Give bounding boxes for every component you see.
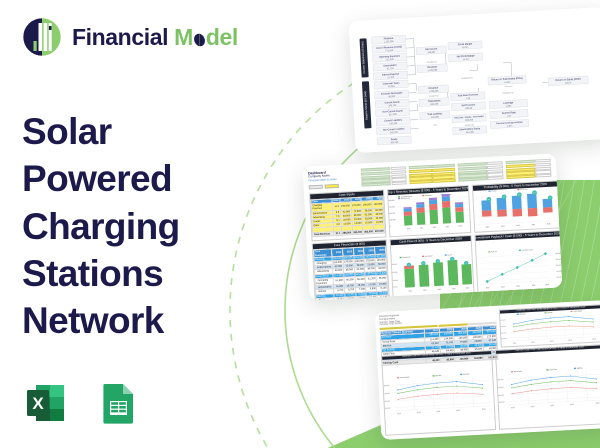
core-financials-table-panel[interactable]: Core Financials ($ 000) Core Financials2… [312,240,391,301]
svg-text:2026: 2026 [458,225,462,227]
svg-text:2024: 2024 [550,341,554,343]
svg-text:2025: 2025 [531,224,535,226]
svg-text:Net Income: Net Income [520,188,528,191]
svg-text:1.87x: 1.87x [507,125,513,127]
svg-text:2023: 2023 [419,227,423,229]
profitability-chart: EBITDA Net Income [473,186,560,231]
svg-text:109.29: 109.29 [465,108,473,110]
revenue-margin-chart-2: Gross Margin EBITDA Revenue 400,000300,0… [382,355,494,435]
pie-chart-bars-logo-icon [22,17,62,57]
brand-name-part2-suffix: del [206,24,238,50]
brand-name-part2-prefix: M [174,24,193,50]
title-line-3: Charging [22,203,322,250]
svg-text:100,000: 100,000 [502,338,508,340]
cash-flow-chart-panel[interactable]: Cash Flow ($ 000) - 5 Years to December … [389,235,475,300]
svg-text:400,000: 400,000 [384,385,390,387]
svg-text:2022: 2022 [407,228,411,230]
panel-body: 400,000300,000 200,000100,000 0 Charging… [388,191,471,236]
title-line-1: Solar [22,108,322,155]
svg-text:2026: 2026 [593,339,597,341]
svg-text:2026: 2026 [595,403,599,405]
revenue-margin-chart-3-panel[interactable]: EBITDA / Cash Flow / Net Income ($ 000) … [494,344,600,430]
svg-text:Gross Margin: Gross Margin [400,377,410,379]
projections-bottom-row: Revenue / EBITDA / Gross Margin ($ 000) … [381,344,600,436]
top1-revenue-chart-panel[interactable]: Top 1 Revenue Streams ($ 000) - 5 Years … [387,185,472,237]
projections-card[interactable]: Financial ProjectionsCompany NameScenari… [375,300,600,440]
svg-text:Cash Flow: Cash Flow [549,369,557,371]
panel-body: Core Financials20222023202420252026 Reve… [313,246,389,301]
svg-text:50,000: 50,000 [393,287,398,289]
svg-text:Payback: Payback [491,251,497,253]
svg-text:400,000: 400,000 [497,379,503,381]
panel-body: EBITDA Net Income [473,186,560,231]
svg-text:300,000: 300,000 [388,206,394,208]
svg-text:100,000: 100,000 [389,219,395,221]
panel-body: Operating CF Investing CF Net CF 200,000… [391,241,475,300]
svg-text:Revenue: Revenue [429,86,439,90]
svg-text:2024: 2024 [437,411,441,413]
summary-panel-1 [361,166,407,188]
svg-text:2022: 2022 [510,407,514,409]
svg-text:2024: 2024 [432,227,436,229]
svg-text:100,000: 100,000 [498,402,504,404]
google-sheets-icon [94,379,142,427]
cash-flow-chart: Operating CF Investing CF Net CF 200,000… [391,241,475,300]
dupont-tree-diagram: Income Statement (IS Data) Balance Sheet… [349,7,600,153]
svg-text:24,700: 24,700 [387,77,395,79]
svg-text:2026: 2026 [547,223,551,225]
svg-text:300,000: 300,000 [501,326,507,328]
svg-text:2025: 2025 [531,285,535,287]
svg-text:EBITDA: EBITDA [491,189,496,192]
svg-text:200,000: 200,000 [391,264,396,266]
summary-panel-3 [457,161,503,183]
svg-text:plus: plus [434,124,438,126]
dashboard-panel-grid: Case Inputs Case20222023202420252026 Cha… [309,181,557,294]
svg-text:28.1%: 28.1% [565,82,571,84]
svg-text:Net CF: Net CF [447,254,452,257]
svg-text:Gross Margin: Gross Margin [573,311,582,313]
svg-text:2023: 2023 [530,406,534,408]
svg-text:Operating CF: Operating CF [402,256,410,259]
svg-text:2025: 2025 [568,340,572,342]
svg-text:2024: 2024 [516,225,520,227]
svg-text:100,000: 100,000 [392,280,397,282]
svg-text:61,750: 61,750 [387,68,395,70]
svg-text:150,000: 150,000 [556,271,562,273]
svg-text:2022: 2022 [486,287,490,289]
page-title: Solar Powered Charging Stations Network [22,108,322,345]
svg-text:EBITDA: EBITDA [435,374,442,377]
svg-text:200,000: 200,000 [384,401,390,403]
svg-text:2026: 2026 [545,284,549,286]
svg-text:Revenue: Revenue [384,37,394,41]
svg-text:Revenue: Revenue [520,314,526,316]
svg-text:2025: 2025 [445,226,449,228]
svg-text:Subscription: Subscription [425,194,433,197]
svg-text:250,000: 250,000 [555,259,561,261]
svg-text:Net Income: Net Income [513,370,521,373]
left-content-column: Financial Mdel Solar Powered Charging St… [22,14,322,434]
svg-text:100,000: 100,000 [385,408,391,410]
svg-text:46,563: 46,563 [388,86,396,88]
summary-panel-4 [505,159,551,181]
svg-text:Cumulative Cash: Cumulative Cash [522,248,533,252]
svg-text:1.88x: 1.88x [506,105,512,107]
svg-text:200,000: 200,000 [498,395,504,397]
svg-text:2025: 2025 [452,288,456,290]
svg-text:2022: 2022 [513,343,517,345]
svg-text:2023: 2023 [423,290,427,292]
svg-text:98,800: 98,800 [388,96,396,98]
leaf-o-icon [193,27,206,43]
title-line-5: Network [22,297,322,344]
title-line-4: Stations [22,250,322,297]
svg-text:400,000: 400,000 [501,320,507,322]
svg-text:2024: 2024 [516,286,520,288]
svg-text:300,000: 300,000 [555,253,561,255]
svg-text:100,000: 100,000 [556,277,562,279]
svg-text:2023: 2023 [531,342,535,344]
svg-text:Investing CF: Investing CF [424,255,432,258]
svg-text:2022: 2022 [485,226,489,228]
svg-text:Revenue: Revenue [463,374,469,376]
microsoft-excel-icon: X [22,379,70,427]
revenue-margin-chart-1: Revenue EBITDA Gross Margin 400,000300,0… [500,309,600,347]
svg-text:2026: 2026 [482,409,486,411]
dupont-tree-card[interactable]: Income Statement (IS Data) Balance Sheet… [349,7,600,153]
svg-text:2025: 2025 [570,404,574,406]
svg-text:300,000: 300,000 [497,387,503,389]
svg-text:2022: 2022 [397,413,401,415]
svg-text:200,000: 200,000 [556,265,562,267]
svg-text:EBITDA: EBITDA [547,311,552,314]
svg-text:0: 0 [389,226,390,228]
svg-text:400,000: 400,000 [388,200,394,202]
svg-text:Leverage: Leverage [503,101,514,105]
brand-name-part1: Financial [72,24,168,51]
svg-text:200,000: 200,000 [501,333,507,335]
svg-text:2023: 2023 [417,412,421,414]
svg-text:X: X [32,394,44,413]
dashboard-card[interactable]: Dashboard Company Name Financial tables … [303,153,563,300]
svg-text:2026: 2026 [465,288,469,290]
top1-revenue-chart: 400,000300,000 200,000100,000 0 Charging… [388,191,471,236]
projection-table-panel[interactable]: Financial ProjectionsCompany NameScenari… [379,310,498,354]
dashboard-next-button[interactable] [325,184,339,189]
svg-text:Revenue: Revenue [427,65,437,69]
title-line-2: Powered [22,155,322,202]
core-financials-table: Core Financials20222023202420252026 Reve… [313,246,389,301]
svg-text:2024: 2024 [550,405,554,407]
svg-text:2022: 2022 [408,291,412,293]
revenue-margin-chart-2-panel[interactable]: Revenue / EBITDA / Gross Margin ($ 000) … [381,350,496,436]
revenue-margin-chart-1-panel[interactable]: Revenue / EBITDA / Gross Margin ($ 000) … [499,304,600,347]
svg-text:11.2%: 11.2% [463,59,469,61]
svg-text:14.9%: 14.9% [504,82,510,84]
brand-name: Financial Mdel [72,24,238,51]
brand-lockup: Financial Mdel [22,14,322,60]
svg-text:2023: 2023 [501,287,505,289]
profitability-chart-panel[interactable]: Profitability ($ 000) - 5 Years to Decem… [472,180,561,232]
svg-text:150,000: 150,000 [392,272,397,274]
svg-text:2024: 2024 [437,289,441,291]
svg-text:EBITDA: EBITDA [576,367,583,370]
svg-text:Equity: Equity [391,138,398,141]
svg-text:200,000: 200,000 [389,213,395,215]
summary-panel-2 [409,164,455,186]
file-format-icons: X [22,379,142,427]
svg-text:2023: 2023 [501,226,505,228]
svg-text:40.0%: 40.0% [462,47,468,49]
svg-text:300,000: 300,000 [384,393,390,395]
revenue-margin-chart-3: Net Income Cash Flow EBITDA 400,000300,0… [496,349,600,429]
svg-text:2025: 2025 [456,410,460,412]
